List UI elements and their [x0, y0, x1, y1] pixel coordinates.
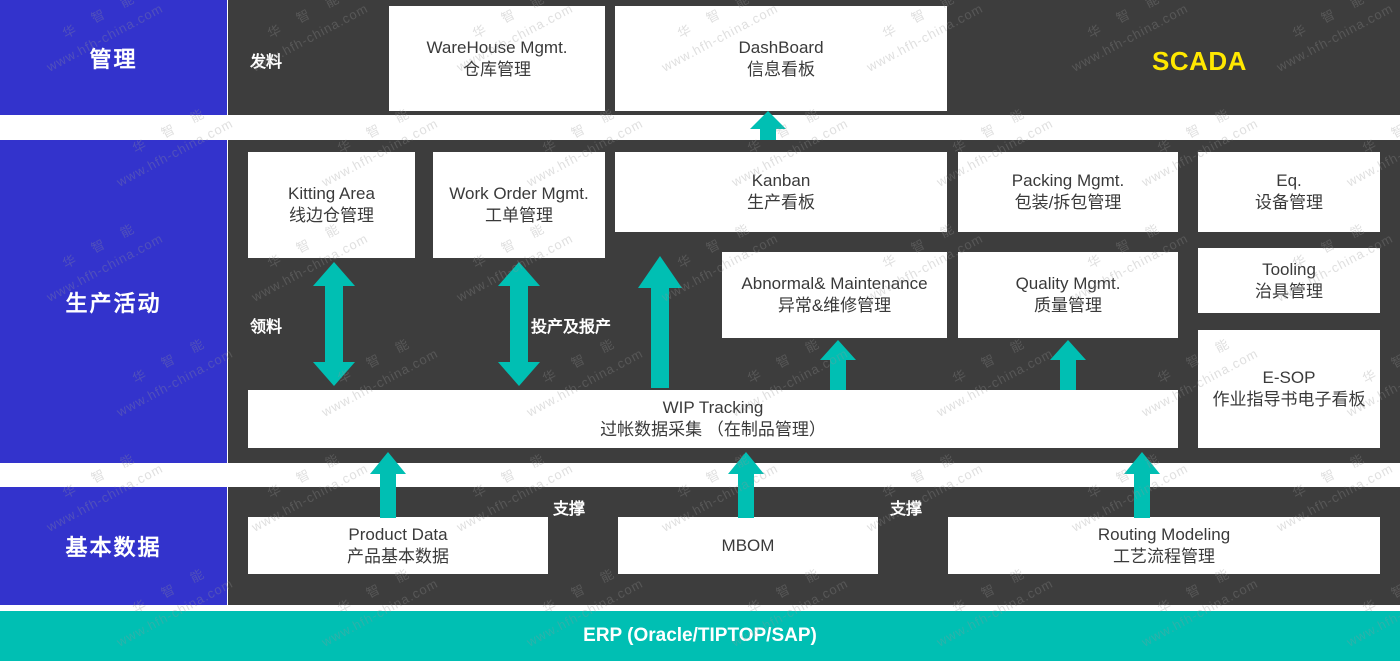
arrow-up-wip-to-abnormal [818, 340, 858, 390]
erp-bar[interactable]: ERP (Oracle/TIPTOP/SAP) [0, 611, 1400, 661]
card-abnormal-maintenance-en: Abnormal& Maintenance [741, 273, 927, 295]
card-esop[interactable]: E-SOP 作业指导书电子看板 [1198, 330, 1380, 448]
arrow-up-mbom-to-wip [726, 452, 766, 518]
card-equipment-zh: 设备管理 [1255, 192, 1323, 214]
card-kitting-area-zh: 线边仓管理 [289, 205, 374, 227]
arrow-up-routing-to-wip [1122, 452, 1162, 518]
card-work-order-mgmt-zh: 工单管理 [485, 205, 553, 227]
card-wip-tracking[interactable]: WIP Tracking 过帐数据采集 （在制品管理） [248, 390, 1178, 448]
flow-label-support-1: 支撑 [553, 495, 585, 519]
band-label-management-text: 管理 [89, 42, 137, 74]
card-packing-mgmt-en: Packing Mgmt. [1012, 170, 1124, 192]
card-routing-modeling-en: Routing Modeling [1098, 524, 1230, 546]
card-equipment[interactable]: Eq. 设备管理 [1198, 152, 1380, 232]
band-label-basic-data: 基本数据 [0, 487, 227, 605]
card-routing-modeling-zh: 工艺流程管理 [1113, 546, 1215, 568]
flow-label-support-2: 支撑 [890, 495, 922, 519]
card-equipment-en: Eq. [1276, 170, 1302, 192]
scada-label: SCADA [1152, 46, 1247, 77]
card-packing-mgmt[interactable]: Packing Mgmt. 包装/拆包管理 [958, 152, 1178, 232]
card-work-order-mgmt[interactable]: Work Order Mgmt. 工单管理 [433, 152, 605, 258]
band-label-management: 管理 [0, 0, 227, 115]
arrow-up-wip-to-kanban [636, 256, 684, 388]
card-work-order-mgmt-en: Work Order Mgmt. [449, 183, 588, 205]
card-abnormal-maintenance[interactable]: Abnormal& Maintenance 异常&维修管理 [722, 252, 947, 338]
band-label-basic-data-text: 基本数据 [65, 530, 161, 562]
band-label-production-text: 生产活动 [65, 286, 161, 318]
flow-label-pick-material: 领料 [250, 313, 282, 337]
arrow-double-workorder-wip [496, 262, 542, 386]
card-kanban[interactable]: Kanban 生产看板 [615, 152, 947, 232]
flow-label-production-report: 投产及报产 [531, 313, 611, 337]
card-abnormal-maintenance-zh: 异常&维修管理 [778, 295, 891, 317]
card-product-data[interactable]: Product Data 产品基本数据 [248, 517, 548, 574]
band-label-production: 生产活动 [0, 140, 227, 463]
card-kanban-en: Kanban [752, 170, 811, 192]
card-dashboard[interactable]: DashBoard 信息看板 [615, 6, 947, 111]
card-product-data-en: Product Data [348, 524, 447, 546]
card-warehouse-mgmt-en: WareHouse Mgmt. [426, 37, 567, 59]
card-warehouse-mgmt-zh: 仓库管理 [463, 59, 531, 81]
arrow-up-productdata-to-wip [368, 452, 408, 518]
arrow-double-kitting-wip [311, 262, 357, 386]
card-tooling[interactable]: Tooling 治具管理 [1198, 248, 1380, 313]
card-mbom-en: MBOM [722, 535, 775, 557]
card-dashboard-zh: 信息看板 [747, 59, 815, 81]
card-warehouse-mgmt[interactable]: WareHouse Mgmt. 仓库管理 [389, 6, 605, 111]
flow-label-issue-material: 发料 [250, 48, 282, 72]
card-quality-mgmt[interactable]: Quality Mgmt. 质量管理 [958, 252, 1178, 338]
erp-bar-label: ERP (Oracle/TIPTOP/SAP) [583, 625, 817, 647]
card-wip-tracking-zh: 过帐数据采集 （在制品管理） [600, 419, 826, 441]
card-kitting-area[interactable]: Kitting Area 线边仓管理 [248, 152, 415, 258]
card-mbom[interactable]: MBOM [618, 517, 878, 574]
card-esop-zh: 作业指导书电子看板 [1213, 389, 1366, 411]
diagram-canvas: 管理 发料 WareHouse Mgmt. 仓库管理 DashBoard 信息看… [0, 0, 1400, 661]
card-packing-mgmt-zh: 包装/拆包管理 [1015, 192, 1122, 214]
card-dashboard-en: DashBoard [738, 37, 823, 59]
card-tooling-en: Tooling [1262, 259, 1316, 281]
card-kitting-area-en: Kitting Area [288, 183, 375, 205]
card-kanban-zh: 生产看板 [747, 192, 815, 214]
card-wip-tracking-en: WIP Tracking [663, 397, 764, 419]
arrow-up-wip-to-quality [1048, 340, 1088, 390]
card-quality-mgmt-zh: 质量管理 [1034, 295, 1102, 317]
card-routing-modeling[interactable]: Routing Modeling 工艺流程管理 [948, 517, 1380, 574]
card-tooling-zh: 治具管理 [1255, 281, 1323, 303]
card-esop-en: E-SOP [1263, 367, 1316, 389]
card-quality-mgmt-en: Quality Mgmt. [1016, 273, 1121, 295]
card-product-data-zh: 产品基本数据 [347, 546, 449, 568]
